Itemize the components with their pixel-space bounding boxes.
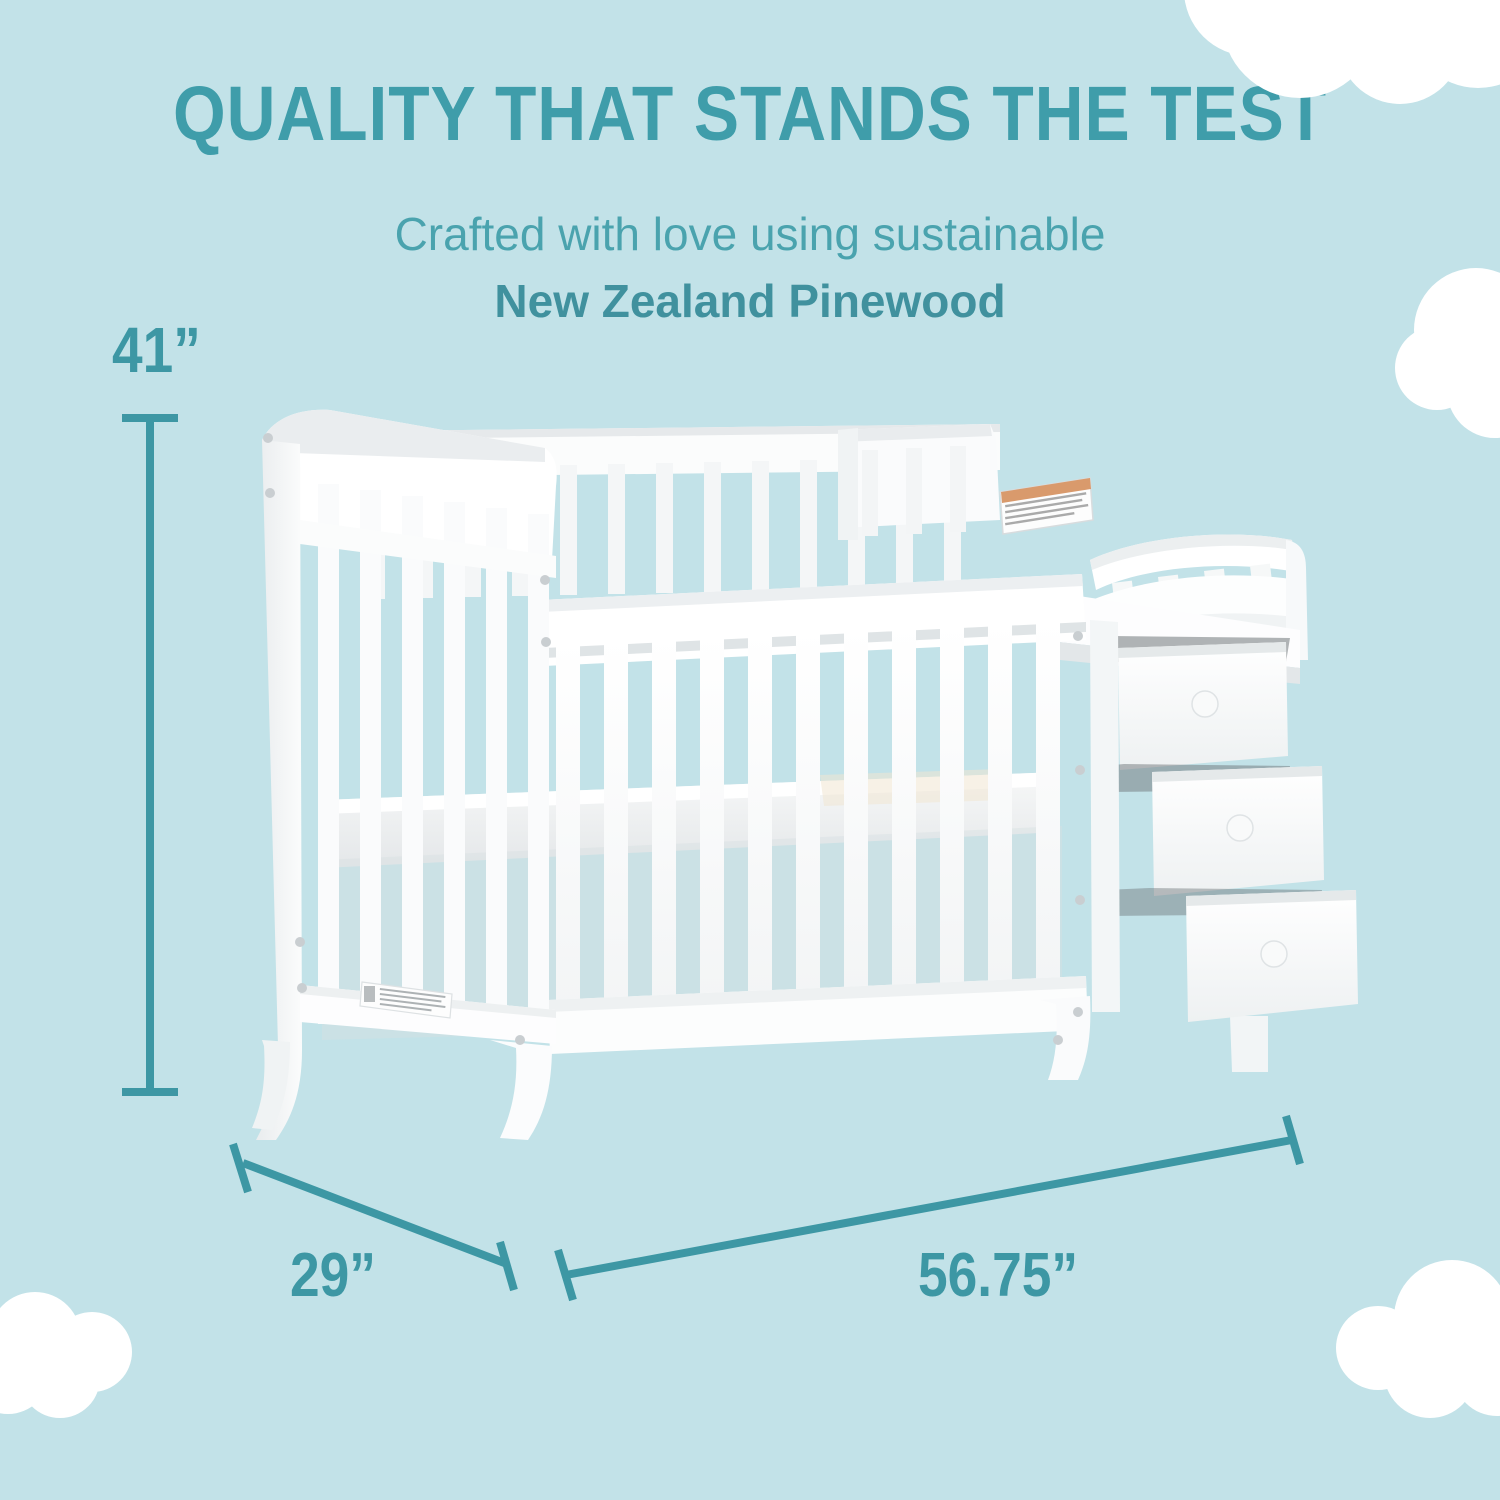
dimension-line-width xyxy=(558,1116,1300,1300)
dimension-annotations xyxy=(0,0,1500,1500)
infographic-canvas: QUALITY THAT STANDS THE TEST Crafted wit… xyxy=(0,0,1500,1500)
dimension-line-height xyxy=(122,418,178,1092)
dimension-line-depth xyxy=(233,1144,514,1290)
